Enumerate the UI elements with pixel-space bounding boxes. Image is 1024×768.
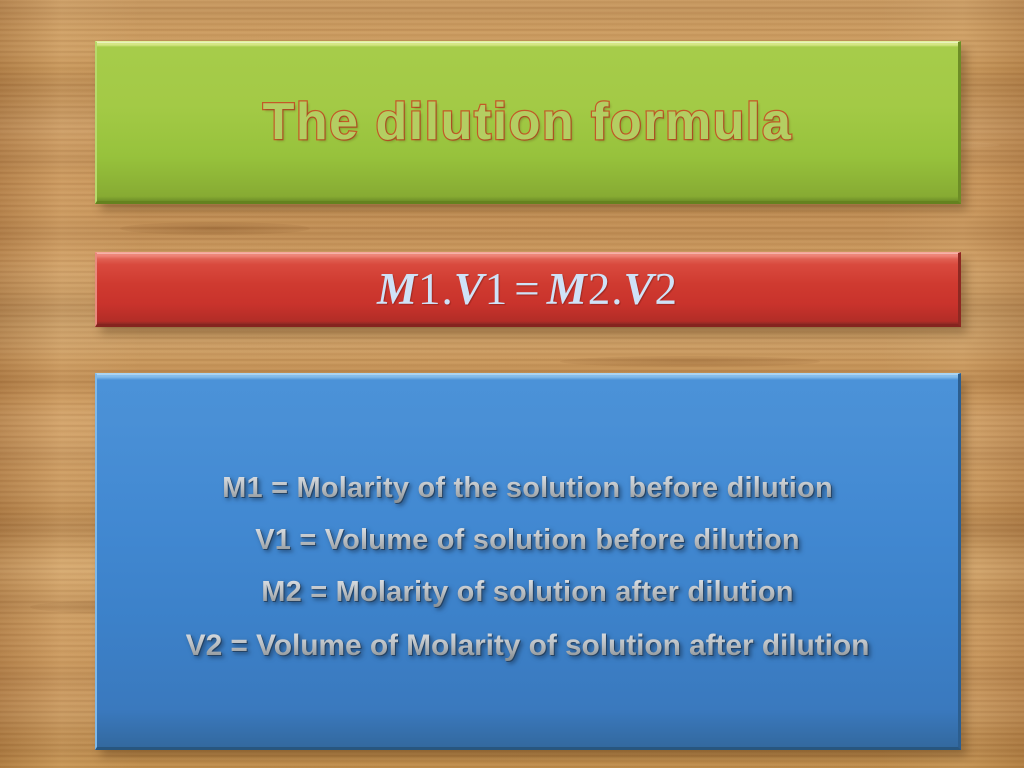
page-title: The dilution formula bbox=[263, 92, 793, 152]
definitions-panel: M1 = Molarity of the solution before dil… bbox=[95, 373, 961, 750]
formula-v1-symbol: V bbox=[454, 264, 485, 314]
definition-line-v2: V2 = Volume of Molarity of solution afte… bbox=[186, 620, 870, 672]
definition-line-v1: V1 = Volume of solution before dilution bbox=[255, 516, 800, 566]
title-panel: The dilution formula bbox=[95, 41, 961, 204]
formula-m1-symbol: M bbox=[377, 264, 418, 314]
formula-m1-subscript: 1 bbox=[418, 264, 442, 314]
dilution-formula: M1.V1=M2.V2 bbox=[377, 263, 678, 315]
formula-dot-right: . bbox=[611, 264, 623, 314]
definitions-list: M1 = Molarity of the solution before dil… bbox=[97, 450, 958, 671]
formula-m2-subscript: 2 bbox=[588, 264, 612, 314]
formula-v1-subscript: 1 bbox=[485, 264, 509, 314]
formula-dot-left: . bbox=[442, 264, 454, 314]
definition-line-m1: M1 = Molarity of the solution before dil… bbox=[222, 464, 833, 514]
formula-panel: M1.V1=M2.V2 bbox=[95, 252, 961, 327]
slide-canvas: The dilution formula M1.V1=M2.V2 M1 = Mo… bbox=[0, 0, 1024, 768]
definition-line-m2: M2 = Molarity of solution after dilution bbox=[261, 568, 793, 618]
formula-v2-subscript: 2 bbox=[654, 264, 678, 314]
formula-equals-sign: = bbox=[508, 264, 546, 314]
formula-v2-symbol: V bbox=[623, 264, 654, 314]
formula-m2-symbol: M bbox=[547, 264, 588, 314]
